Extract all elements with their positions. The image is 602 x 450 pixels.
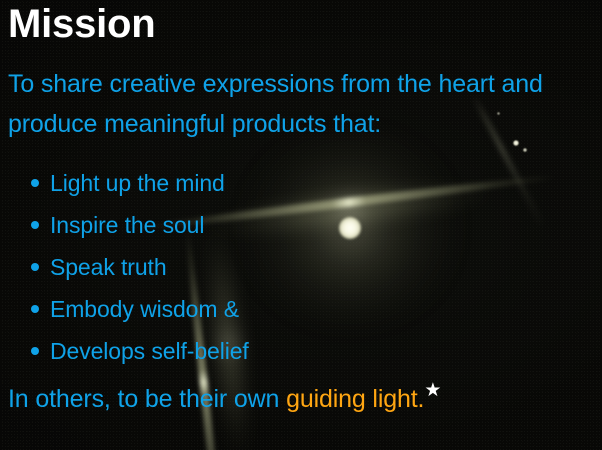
list-item: Speak truth — [0, 246, 249, 288]
list-item: Develops self-belief — [0, 330, 249, 372]
star-footnote-icon: ★ — [424, 380, 441, 401]
bullet-list: Light up the mind Inspire the soul Speak… — [0, 162, 249, 372]
list-item-label: Develops self-belief — [50, 338, 249, 364]
list-item-label: Embody wisdom & — [50, 296, 239, 322]
list-item: Light up the mind — [0, 162, 249, 204]
list-item: Inspire the soul — [0, 204, 249, 246]
bullet-dot-icon — [31, 263, 39, 271]
lead-line-1: To share creative expressions from the h… — [8, 70, 543, 98]
page-title: Mission — [8, 2, 156, 47]
bullet-dot-icon — [31, 221, 39, 229]
bullet-dot-icon — [31, 305, 39, 313]
bullet-dot-icon — [31, 179, 39, 187]
lead-paragraph: To share creative expressions from the h… — [8, 64, 596, 144]
closing-line: In others, to be their own guiding light… — [8, 383, 441, 415]
list-item-label: Speak truth — [50, 254, 167, 280]
mission-slide: Mission To share creative expressions fr… — [0, 0, 602, 450]
closing-highlight: guiding light. — [286, 385, 424, 413]
list-item-label: Light up the mind — [50, 170, 225, 196]
list-item-label: Inspire the soul — [50, 212, 204, 238]
bullet-dot-icon — [31, 347, 39, 355]
closing-prefix: In others, to be their own — [8, 385, 286, 413]
lead-line-2: produce meaningful products that: — [8, 104, 596, 144]
list-item: Embody wisdom & — [0, 288, 249, 330]
slide-content: Mission To share creative expressions fr… — [0, 0, 602, 450]
